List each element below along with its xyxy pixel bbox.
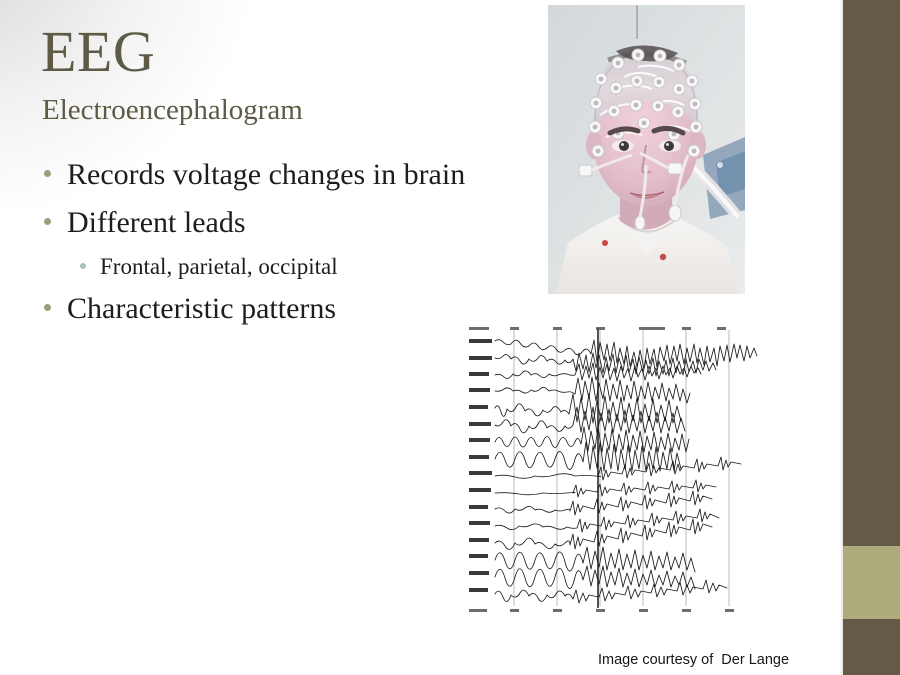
bullet-list: Records voltage changes in brain Differe… — [44, 155, 514, 337]
list-item: Characteristic patterns — [44, 289, 514, 330]
bullet-dot-icon — [44, 170, 51, 177]
sidebar-bar-accent — [843, 546, 900, 619]
eeg-cap-photo — [548, 5, 745, 294]
list-item-label: Different leads — [67, 203, 246, 244]
bullet-dot-icon — [80, 263, 86, 269]
bullet-dot-icon — [44, 304, 51, 311]
list-item-label: Records voltage changes in brain — [67, 155, 465, 196]
eeg-trace-chart — [455, 318, 767, 626]
list-item-label: Frontal, parietal, occipital — [100, 251, 338, 282]
image-credit-caption: Image courtesy of Der Lange — [598, 652, 789, 668]
list-item: Records voltage changes in brain — [44, 155, 514, 196]
slide-title: EEG — [41, 22, 155, 81]
list-item: Different leads — [44, 203, 514, 244]
list-item-label: Characteristic patterns — [67, 289, 336, 330]
slide-canvas: EEG Electroencephalogram Records voltage… — [0, 0, 900, 675]
slide-subtitle: Electroencephalogram — [42, 94, 303, 127]
list-item-sub: Frontal, parietal, occipital — [44, 251, 514, 282]
bullet-dot-icon — [44, 218, 51, 225]
